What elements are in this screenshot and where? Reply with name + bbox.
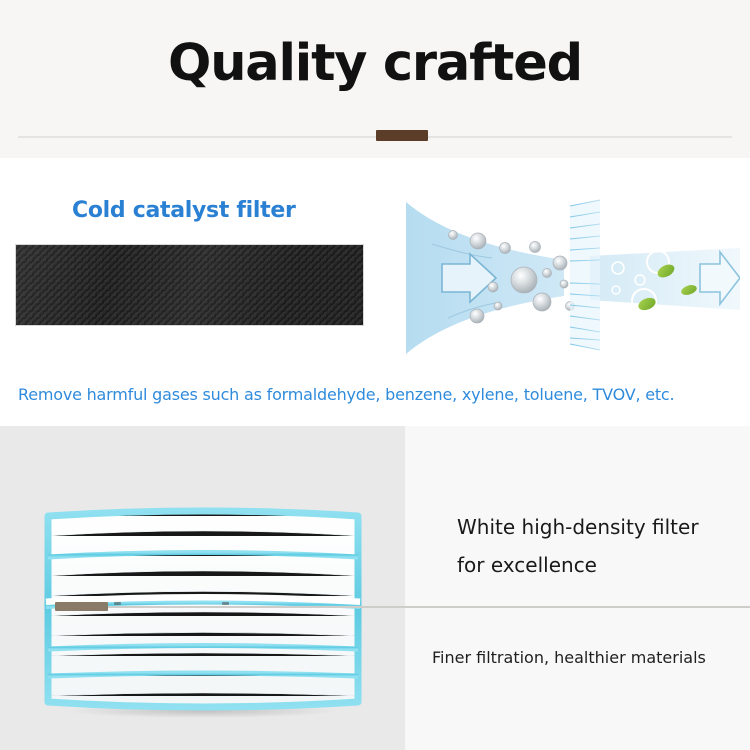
cold-catalyst-honeycomb-panel	[16, 245, 363, 325]
header-accent-bar	[376, 130, 428, 141]
mesh-filter-panel	[570, 200, 600, 350]
panel-sheen-overlay	[16, 245, 363, 325]
white-high-density-filter-frame	[38, 504, 368, 719]
white-filter-divider-line	[55, 606, 750, 608]
infographic-page: Quality crafted Cold catalyst filter	[0, 0, 750, 750]
white-filter-heading: White high-density filter for excellence	[457, 508, 737, 584]
airflow-filtration-diagram	[404, 198, 740, 358]
cold-catalyst-section: Cold catalyst filter	[0, 158, 750, 426]
cold-catalyst-title: Cold catalyst filter	[72, 198, 296, 223]
page-title: Quality crafted	[0, 34, 750, 93]
header-banner: Quality crafted	[0, 0, 750, 158]
white-filter-subtitle: Finer filtration, healthier materials	[432, 648, 706, 667]
white-filter-heading-line1: White high-density filter	[457, 508, 737, 546]
white-filter-image-panel	[0, 426, 405, 750]
white-filter-text-panel: White high-density filter for excellence	[405, 426, 750, 750]
white-filter-heading-line2: for excellence	[457, 546, 737, 584]
cold-catalyst-caption: Remove harmful gases such as formaldehyd…	[18, 385, 674, 404]
white-filter-accent-bar	[55, 602, 108, 611]
header-divider-line	[18, 136, 732, 138]
